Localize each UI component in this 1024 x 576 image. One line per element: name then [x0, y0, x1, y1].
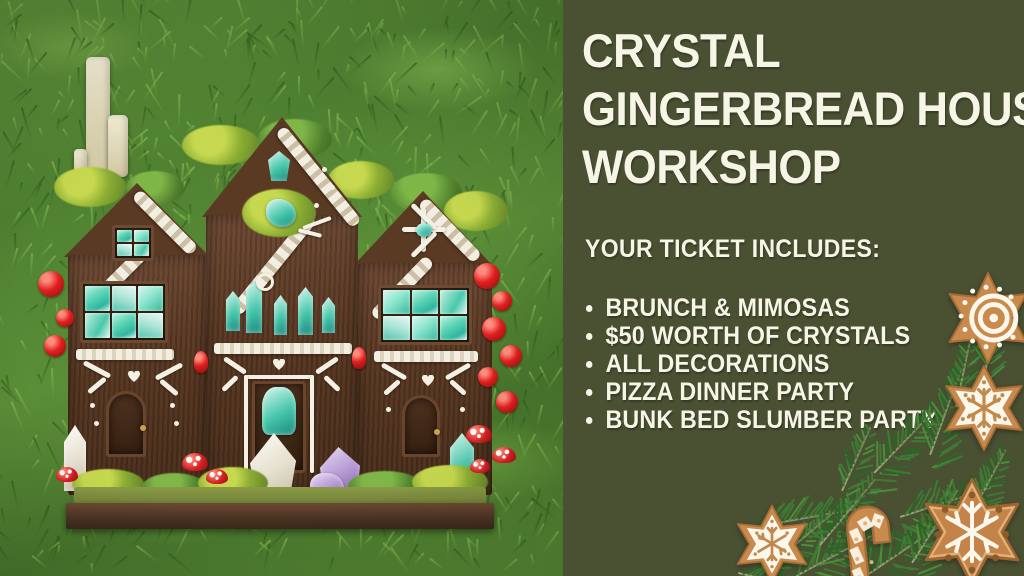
crystal-pane — [440, 290, 467, 314]
crystal-chimney-short — [108, 115, 128, 177]
icing-dot — [460, 407, 465, 412]
red-berry — [44, 335, 66, 357]
icing-dot — [386, 407, 391, 412]
door-right — [402, 395, 440, 457]
icing-door-frame — [244, 375, 314, 379]
red-berry — [482, 317, 506, 341]
crystal-pane — [134, 230, 149, 242]
icing-dot — [174, 421, 179, 426]
toadstool — [56, 467, 78, 482]
door-left — [106, 391, 146, 457]
snowflake-center-crystal — [416, 223, 432, 237]
poster-canvas: CRYSTAL GINGERBREAD HOUSE WORKSHOP YOUR … — [0, 0, 1024, 576]
window-upper-left — [80, 281, 168, 343]
icing-trim-band — [214, 343, 352, 354]
red-berry — [500, 345, 522, 367]
red-berry — [194, 351, 208, 373]
crystal-pane — [383, 290, 410, 314]
toadstool — [206, 469, 228, 484]
gingerbread-star-cookie-small — [730, 502, 814, 576]
gingerbread-house-photo — [0, 0, 563, 576]
toadstool — [182, 453, 208, 471]
crystal-pane — [412, 316, 439, 340]
gingerbread-house — [30, 95, 530, 555]
crystal-pane — [112, 286, 137, 311]
icing-door-frame — [310, 375, 314, 473]
icing-dot — [90, 403, 95, 408]
icing-dot — [94, 421, 99, 426]
gingerbread-star-cookie-snowflake — [938, 362, 1024, 454]
crystal-pane — [138, 313, 163, 338]
window-upper-right — [378, 285, 472, 345]
red-berry — [56, 309, 74, 327]
toadstool — [470, 459, 490, 473]
icing-trim-band — [76, 349, 174, 360]
red-berry — [352, 347, 366, 369]
crystal-chimney-tall — [86, 57, 110, 175]
crystal-pane — [85, 286, 110, 311]
toadstool — [466, 425, 492, 443]
crystal-pane — [117, 244, 132, 256]
gingerbread-star-cookie-rings — [940, 270, 1024, 366]
crystal-pane — [440, 316, 467, 340]
gingerbread-star-cookie-large-snowflake — [916, 476, 1024, 576]
icing-ring — [256, 273, 274, 291]
house-base-board — [66, 503, 494, 529]
gingerbread-decor-corner — [724, 276, 1024, 576]
crystal-pane — [85, 313, 110, 338]
red-berry — [478, 367, 498, 387]
toadstool — [492, 447, 516, 463]
page-title-line-3: WORKSHOP — [582, 143, 841, 190]
crystal-pane — [412, 290, 439, 314]
red-berry — [38, 271, 64, 297]
icing-dot — [330, 185, 335, 190]
red-berry — [474, 263, 500, 289]
crystal-pane — [138, 286, 163, 311]
crystal-pane — [117, 230, 132, 242]
icing-trim-band — [374, 351, 478, 362]
icing-dot — [170, 403, 175, 408]
red-berry — [496, 391, 518, 413]
page-title-line-2: GINGERBREAD HOUSE — [582, 85, 1024, 132]
doorway-crystal-curtain — [262, 387, 296, 435]
icing-door-frame — [244, 375, 248, 473]
door-knob-left — [140, 425, 146, 431]
gingerbread-candy-cane-cookie — [817, 481, 921, 576]
balcony-crystal — [298, 287, 313, 335]
icing-dot — [322, 167, 327, 172]
page-title-line-1: CRYSTAL — [582, 27, 780, 74]
crystal-pane — [383, 316, 410, 340]
info-panel: CRYSTAL GINGERBREAD HOUSE WORKSHOP YOUR … — [563, 0, 1024, 576]
ticket-includes-heading: YOUR TICKET INCLUDES: — [585, 235, 880, 264]
crystal-pane — [134, 244, 149, 256]
icing-dot — [314, 203, 319, 208]
door-knob-right — [434, 429, 440, 435]
red-berry — [492, 291, 512, 311]
crystal-pane — [112, 313, 137, 338]
window-gable-left — [112, 225, 154, 261]
